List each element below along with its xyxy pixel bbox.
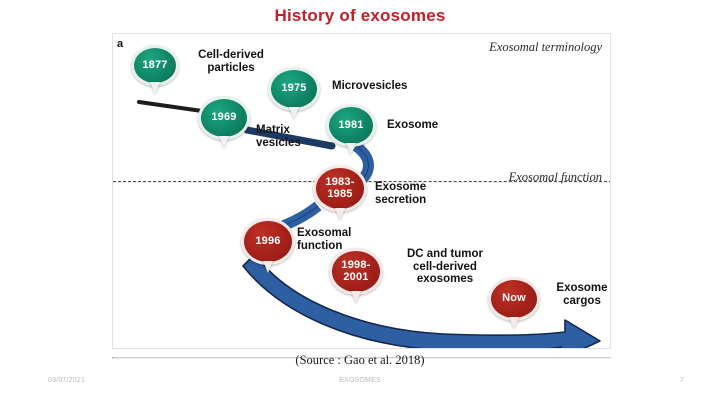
node-label: 1975 [281,83,306,95]
timeline-node-1996[interactable]: 1996 [241,218,295,265]
label-exosome-secretion: Exosome secretion [375,181,451,206]
label-exosomal-function: Exosomal function [297,227,373,252]
figure-panel: a Exosomal terminology Exosomal function… [112,33,611,349]
node-label: 1996 [255,236,280,248]
node-label: 1969 [211,112,236,124]
timeline-node-1998-2001[interactable]: 1998- 2001 [329,248,383,295]
label-exosome-cargos: Exosome cargos [545,282,611,307]
timeline-node-1975[interactable]: 1975 [268,67,320,111]
source-caption: (Source : Gao et al. 2018) [0,353,720,368]
node-label: 1983- 1985 [325,177,354,200]
page-title: History of exosomes [0,6,720,26]
slide-footer: 03/07/2021 EXOSOMES 7 [0,377,720,393]
node-label: 1981 [338,120,363,132]
footer-page-number: 7 [680,377,684,384]
label-cell-derived-particles: Cell-derived particles [189,49,273,74]
node-label: 1998- 2001 [341,260,370,283]
timeline-node-1969[interactable]: 1969 [198,96,250,140]
timeline-node-1981[interactable]: 1981 [326,104,376,147]
label-dc-and-tumor-exosomes: DC and tumor cell-derived exosomes [393,248,497,286]
timeline-node-1983-1985[interactable]: 1983- 1985 [313,165,367,212]
node-label: Now [502,293,526,305]
footer-subject: EXOSOMES [0,377,720,384]
timeline-node-1877[interactable]: 1877 [131,45,179,86]
label-exosome: Exosome [387,119,459,132]
label-microvesicles: Microvesicles [332,80,424,93]
label-matrix-vesicles: Matrix vesicles [256,124,318,149]
node-label: 1877 [142,60,167,72]
